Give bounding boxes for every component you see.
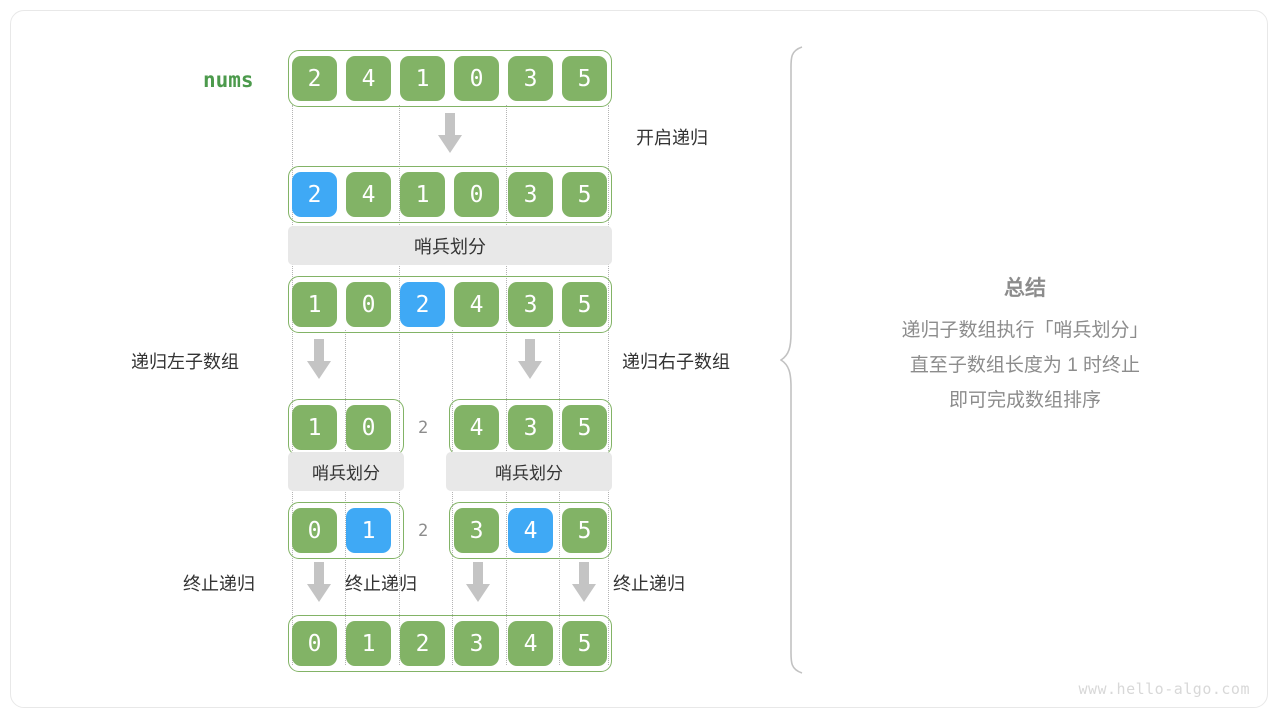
diagram-stage: nums 2 4 1 0 3 5 开启递归 2 4 1 0 3 5 哨兵划分 1… bbox=[0, 0, 1280, 720]
down-arrow-icon bbox=[306, 562, 332, 602]
partition-label-box: 哨兵划分 bbox=[288, 226, 612, 265]
nums-label: nums bbox=[203, 68, 254, 92]
pivot-standalone-value: 2 bbox=[418, 418, 428, 438]
summary-line: 即可完成数组排序 bbox=[845, 385, 1205, 412]
array-cell: 3 bbox=[508, 172, 553, 217]
array-cell: 4 bbox=[346, 172, 391, 217]
array-cell: 1 bbox=[400, 56, 445, 101]
recurse-left-label: 递归左子数组 bbox=[131, 348, 239, 374]
stop-recursion-label: 终止递归 bbox=[183, 570, 255, 596]
array-cell-pivot: 2 bbox=[400, 282, 445, 327]
array-cell: 4 bbox=[454, 405, 499, 450]
array-cell: 1 bbox=[292, 282, 337, 327]
down-arrow-icon bbox=[306, 339, 332, 379]
array-cell-pivot: 4 bbox=[508, 508, 553, 553]
array-cell: 0 bbox=[454, 172, 499, 217]
array-cell: 0 bbox=[346, 282, 391, 327]
array-cell: 5 bbox=[562, 621, 607, 666]
array-cell: 1 bbox=[400, 172, 445, 217]
array-cell: 0 bbox=[292, 508, 337, 553]
pivot-standalone-value: 2 bbox=[418, 521, 428, 541]
array-cell: 4 bbox=[508, 621, 553, 666]
array-cell: 3 bbox=[508, 56, 553, 101]
array-cell: 2 bbox=[400, 621, 445, 666]
summary-title: 总结 bbox=[845, 272, 1205, 302]
array-cell: 5 bbox=[562, 282, 607, 327]
array-cell: 3 bbox=[454, 621, 499, 666]
summary-line: 递归子数组执行「哨兵划分」 bbox=[845, 315, 1205, 342]
down-arrow-icon bbox=[517, 339, 543, 379]
down-arrow-icon bbox=[437, 113, 463, 153]
start-recursion-label: 开启递归 bbox=[636, 124, 708, 150]
array-cell: 0 bbox=[346, 405, 391, 450]
array-cell: 2 bbox=[292, 56, 337, 101]
array-cell: 0 bbox=[454, 56, 499, 101]
array-cell: 0 bbox=[292, 621, 337, 666]
partition-label-box: 哨兵划分 bbox=[288, 452, 404, 491]
recurse-right-label: 递归右子数组 bbox=[622, 348, 730, 374]
down-arrow-icon bbox=[465, 562, 491, 602]
array-cell-pivot: 1 bbox=[346, 508, 391, 553]
partition-label-box: 哨兵划分 bbox=[446, 452, 612, 491]
array-cell: 5 bbox=[562, 405, 607, 450]
array-cell: 4 bbox=[346, 56, 391, 101]
down-arrow-icon bbox=[571, 562, 597, 602]
array-cell: 5 bbox=[562, 508, 607, 553]
stop-recursion-label: 终止递归 bbox=[345, 570, 417, 596]
array-cell: 1 bbox=[346, 621, 391, 666]
array-cell: 4 bbox=[454, 282, 499, 327]
curly-brace bbox=[780, 45, 814, 675]
array-cell: 3 bbox=[508, 405, 553, 450]
array-cell: 3 bbox=[508, 282, 553, 327]
array-cell: 5 bbox=[562, 56, 607, 101]
stop-recursion-label: 终止递归 bbox=[613, 570, 685, 596]
summary-line: 直至子数组长度为 1 时终止 bbox=[845, 350, 1205, 377]
array-cell-pivot: 2 bbox=[292, 172, 337, 217]
array-cell: 3 bbox=[454, 508, 499, 553]
watermark: www.hello-algo.com bbox=[1078, 680, 1250, 698]
array-cell: 5 bbox=[562, 172, 607, 217]
array-cell: 1 bbox=[292, 405, 337, 450]
